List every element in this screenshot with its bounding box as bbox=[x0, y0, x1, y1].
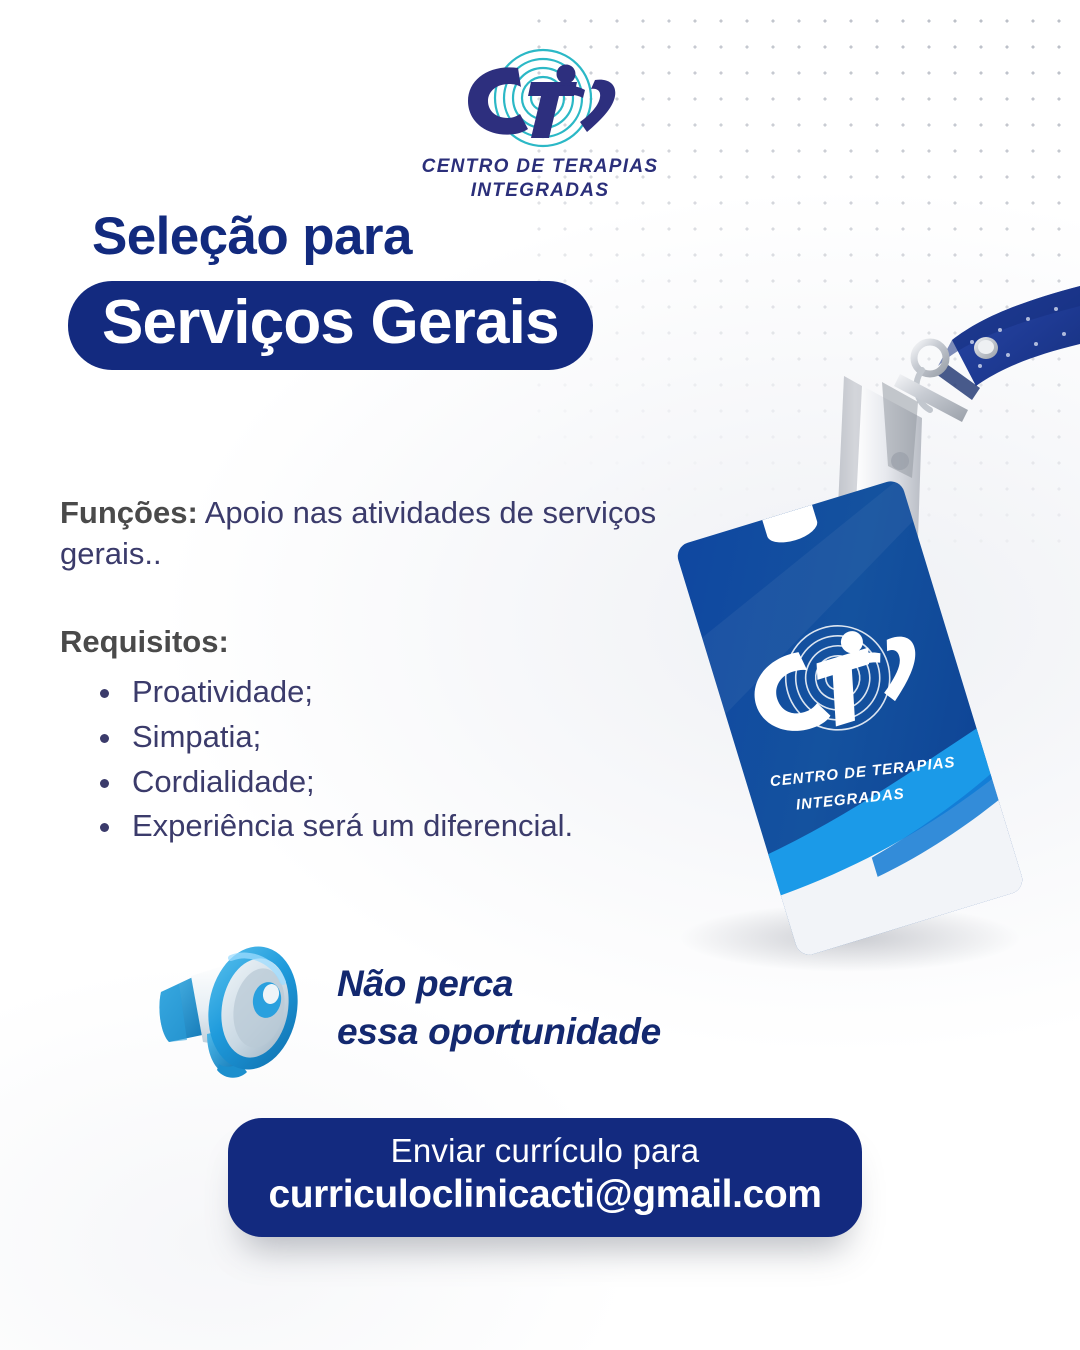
lanyard-strap bbox=[894, 286, 1080, 422]
list-item: Simpatia; bbox=[60, 715, 750, 760]
requirements-list: Proatividade; Simpatia; Cordialidade; Ex… bbox=[60, 670, 750, 849]
list-item: Experiência será um diferencial. bbox=[60, 804, 750, 849]
badge-clip bbox=[836, 376, 922, 570]
card-logo-icon bbox=[740, 604, 931, 753]
promo-slogan: Não perca essa oportunidade bbox=[337, 960, 661, 1055]
megaphone-icon bbox=[155, 930, 315, 1085]
brand-logo: CENTRO DE TERAPIAS INTEGRADAS bbox=[0, 46, 1080, 203]
headline-line2-pill: Serviços Gerais bbox=[68, 281, 593, 370]
brand-logo-subtitle: CENTRO DE TERAPIAS INTEGRADAS bbox=[0, 155, 1080, 203]
list-item: Proatividade; bbox=[60, 670, 750, 715]
cta-email-address[interactable]: curriculoclinicacti@gmail.com bbox=[248, 1173, 842, 1217]
send-resume-cta[interactable]: Enviar currículo para curriculoclinicact… bbox=[228, 1118, 862, 1237]
headline-line1: Seleção para bbox=[92, 206, 412, 267]
brand-logo-subtitle-line1: CENTRO DE TERAPIAS bbox=[0, 155, 1080, 179]
promo-slogan-line1: Não perca bbox=[337, 960, 661, 1007]
svg-text:INTEGRADAS: INTEGRADAS bbox=[795, 785, 905, 813]
promo-slogan-line2: essa oportunidade bbox=[337, 1008, 661, 1055]
functions-label: Funções: bbox=[60, 495, 198, 530]
brand-logo-subtitle-line2: INTEGRADAS bbox=[0, 179, 1080, 203]
functions-paragraph: Funções: Apoio nas atividades de serviço… bbox=[60, 492, 750, 574]
requirements-label: Requisitos: bbox=[60, 624, 750, 660]
recruitment-poster: CENTRO DE TERAPIAS INTEGRADAS Seleção pa… bbox=[0, 0, 1080, 1350]
promo-banner: Não perca essa oportunidade bbox=[155, 930, 661, 1085]
job-description: Funções: Apoio nas atividades de serviço… bbox=[60, 492, 750, 849]
cta-instruction: Enviar currículo para bbox=[248, 1132, 842, 1171]
list-item: Cordialidade; bbox=[60, 760, 750, 805]
card-logo-subtitle: CENTRO DE TERAPIAS INTEGRADAS bbox=[766, 720, 964, 839]
cti-logo-icon bbox=[435, 46, 645, 151]
svg-text:CENTRO DE TERAPIAS: CENTRO DE TERAPIAS bbox=[769, 754, 956, 790]
